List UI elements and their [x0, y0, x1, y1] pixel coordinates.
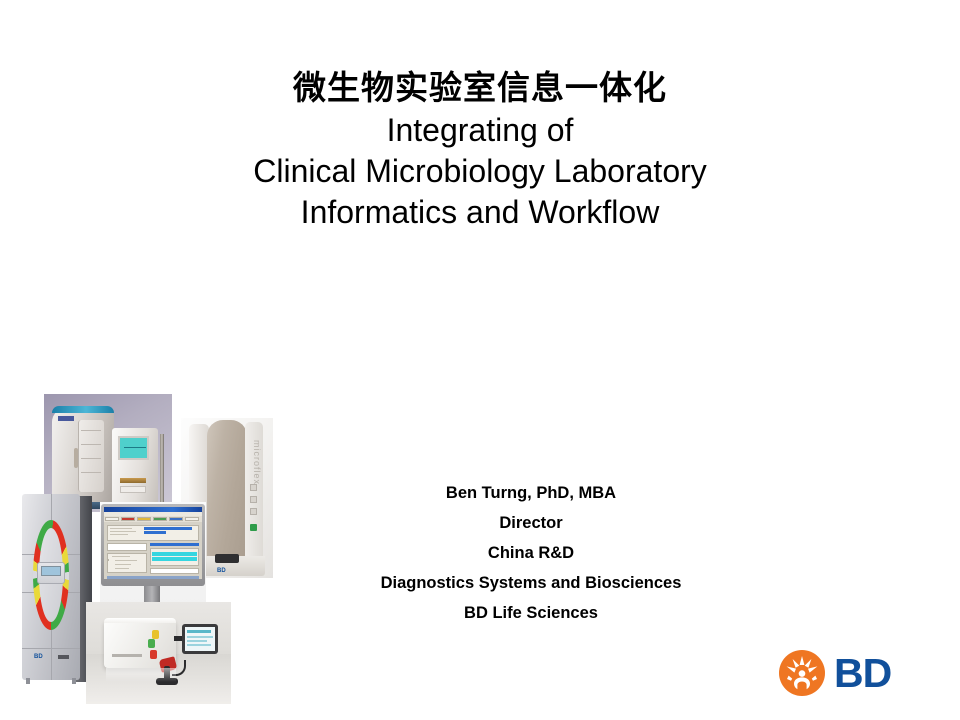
author-company: BD Life Sciences	[286, 598, 776, 628]
page-title: 微生物实验室信息一体化 Integrating of Clinical Micr…	[150, 66, 810, 233]
bd-wordmark: BD	[834, 653, 891, 694]
author-role: Director	[286, 508, 776, 538]
author-name: Ben Turng, PhD, MBA	[286, 478, 776, 508]
title-slide: 微生物实验室信息一体化 Integrating of Clinical Micr…	[0, 0, 960, 720]
title-english-line-3: Informatics and Workflow	[150, 192, 810, 233]
bd-bactec-blood-culture-cabinet-photo: BD	[18, 492, 96, 692]
status-led-green	[148, 639, 155, 648]
instrument-photo-collage: microflex BD BD	[18, 392, 280, 704]
photo-bd-badge: BD	[34, 654, 43, 660]
author-division: China R&D	[286, 538, 776, 568]
photo-bd-badge: BD	[217, 568, 226, 574]
benchtop-analyzer-tablet-scanner-photo	[86, 602, 231, 704]
bd-starburst-person-icon	[779, 650, 825, 696]
author-business-unit: Diagnostics Systems and Biosciences	[286, 568, 776, 598]
photo-bd-badge	[58, 416, 74, 421]
instrument-lcd	[41, 566, 61, 576]
title-english-line-2: Clinical Microbiology Laboratory	[150, 151, 810, 192]
status-led-yellow	[152, 630, 159, 639]
tablet-screen	[185, 627, 215, 651]
instrument-screen	[118, 436, 149, 460]
title-english-line-1: Integrating of	[150, 110, 810, 151]
status-led-red	[150, 650, 157, 659]
monitor-screen	[104, 507, 202, 579]
title-chinese: 微生物实验室信息一体化	[150, 66, 810, 110]
bd-logo: BD	[779, 644, 909, 702]
author-affiliation-block: Ben Turng, PhD, MBA Director China R&D D…	[286, 478, 776, 628]
lis-software-monitor-photo	[100, 502, 206, 614]
